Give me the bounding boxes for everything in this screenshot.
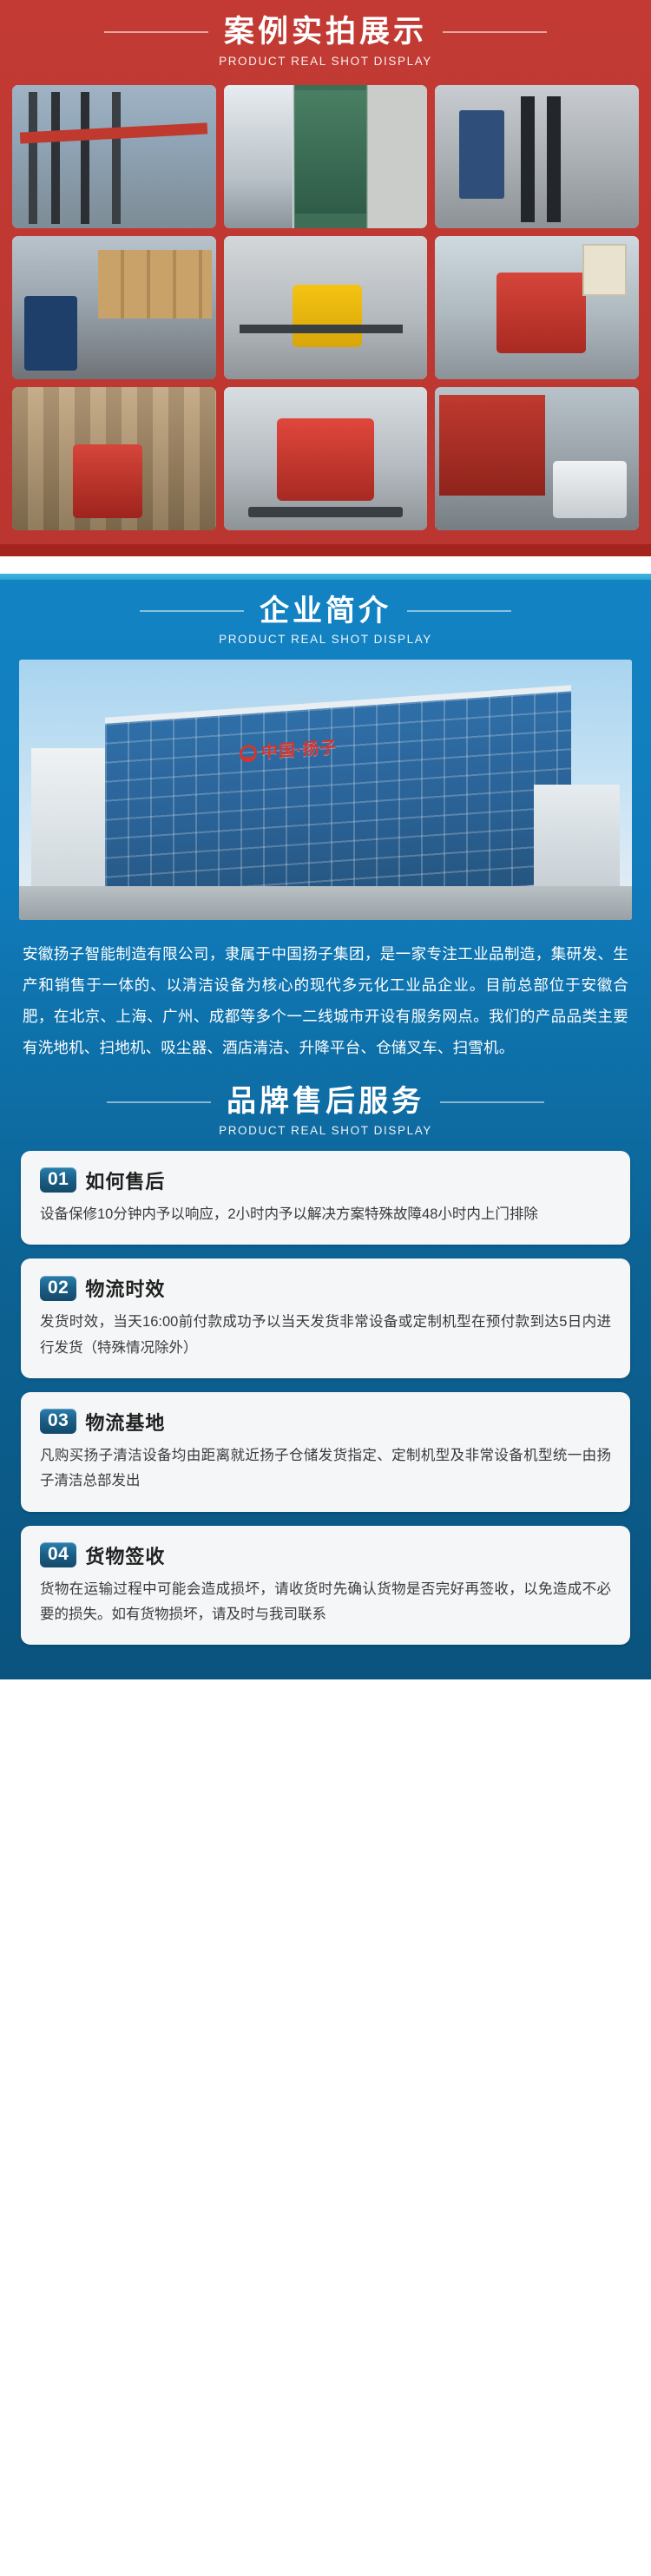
service-title-row: 品牌售后服务 (0, 1086, 651, 1118)
photo-cell-9[interactable] (435, 387, 639, 530)
showcase-header: 案例实拍展示 PRODUCT REAL SHOT DISPLAY (0, 0, 651, 76)
showcase-title-row: 案例实拍展示 (0, 16, 651, 49)
service-header: 品牌售后服务 PRODUCT REAL SHOT DISPLAY (0, 1070, 651, 1145)
service-card-head: 02 物流时效 (40, 1274, 611, 1302)
showcase-section: 案例实拍展示 PRODUCT REAL SHOT DISPLAY (0, 0, 651, 556)
service-number-badge: 04 (40, 1542, 76, 1567)
service-number-badge: 02 (40, 1276, 76, 1301)
service-card[interactable]: 03 物流基地 凡购买扬子清洁设备均由距离就近扬子仓储发货指定、定制机型及非常设… (21, 1392, 630, 1512)
showcase-title: 案例实拍展示 (224, 16, 427, 49)
photo-cell-5[interactable] (224, 236, 428, 379)
service-number-badge: 03 (40, 1409, 76, 1434)
service-number-badge: 01 (40, 1167, 76, 1193)
product-photo-8 (224, 387, 428, 530)
service-card-body: 发货时效，当天16:00前付款成功予以当天发货非常设备或定制机型在预付款到达5日… (40, 1310, 611, 1361)
building-ground (19, 886, 632, 920)
service-card-title: 物流时效 (85, 1274, 165, 1302)
company-subtitle: PRODUCT REAL SHOT DISPLAY (0, 633, 651, 646)
service-card-head: 04 货物签收 (40, 1541, 611, 1569)
product-photo-7 (12, 387, 216, 530)
company-description: 安徽扬子智能制造有限公司，隶属于中国扬子集团，是一家专注工业品制造，集研发、生产… (0, 920, 651, 1071)
service-card-head: 03 物流基地 (40, 1408, 611, 1436)
service-card-list: 01 如何售后 设备保修10分钟内予以响应，2小时内予以解决方案特殊故障48小时… (0, 1146, 651, 1646)
company-header: 企业简介 PRODUCT REAL SHOT DISPLAY (0, 580, 651, 654)
service-card-title: 物流基地 (85, 1408, 165, 1436)
service-rule-left (107, 1101, 211, 1103)
promo-page: 案例实拍展示 PRODUCT REAL SHOT DISPLAY 企业简介 (0, 0, 651, 1679)
service-rule-right (440, 1101, 544, 1103)
showcase-photo-grid (0, 76, 651, 544)
photo-cell-7[interactable] (12, 387, 216, 530)
service-card[interactable]: 04 货物签收 货物在运输过程中可能会造成损坏，请收货时先确认货物是否完好再签收… (21, 1526, 630, 1646)
product-photo-4 (12, 236, 216, 379)
title-rule-right (443, 31, 547, 33)
product-photo-5 (224, 236, 428, 379)
section-divider (0, 556, 651, 574)
photo-cell-6[interactable] (435, 236, 639, 379)
photo-cell-4[interactable] (12, 236, 216, 379)
building-glass-facade (105, 685, 571, 916)
building-right-wing (534, 785, 620, 899)
title-rule-left (104, 31, 208, 33)
photo-cell-1[interactable] (12, 85, 216, 228)
product-photo-2 (224, 85, 428, 228)
service-card[interactable]: 01 如何售后 设备保修10分钟内予以响应，2小时内予以解决方案特殊故障48小时… (21, 1151, 630, 1245)
product-photo-3 (435, 85, 639, 228)
photo-cell-3[interactable] (435, 85, 639, 228)
yangzi-logo-icon (240, 744, 257, 762)
product-photo-1 (12, 85, 216, 228)
company-rule-right (407, 610, 511, 612)
service-card[interactable]: 02 物流时效 发货时效，当天16:00前付款成功予以当天发货非常设备或定制机型… (21, 1258, 630, 1378)
photo-cell-8[interactable] (224, 387, 428, 530)
company-section: 企业简介 PRODUCT REAL SHOT DISPLAY 中国·扬子 安徽扬… (0, 574, 651, 1680)
service-title: 品牌售后服务 (227, 1086, 424, 1118)
service-card-body: 凡购买扬子清洁设备均由距离就近扬子仓储发货指定、定制机型及非常设备机型统一由扬子… (40, 1443, 611, 1495)
service-card-head: 01 如何售后 (40, 1166, 611, 1194)
product-photo-9 (435, 387, 639, 530)
company-title: 企业简介 (260, 595, 391, 628)
company-title-row: 企业简介 (0, 595, 651, 628)
service-card-title: 如何售后 (85, 1166, 165, 1194)
service-card-body: 设备保修10分钟内予以响应，2小时内予以解决方案特殊故障48小时内上门排除 (40, 1202, 611, 1227)
photo-cell-2[interactable] (224, 85, 428, 228)
product-photo-6 (435, 236, 639, 379)
company-building-photo: 中国·扬子 (19, 660, 632, 920)
service-subtitle: PRODUCT REAL SHOT DISPLAY (0, 1124, 651, 1137)
company-rule-left (140, 610, 244, 612)
service-card-title: 货物签收 (85, 1541, 165, 1569)
service-card-body: 货物在运输过程中可能会造成损坏，请收货时先确认货物是否完好再签收，以免造成不必要… (40, 1577, 611, 1628)
showcase-subtitle: PRODUCT REAL SHOT DISPLAY (0, 55, 651, 68)
